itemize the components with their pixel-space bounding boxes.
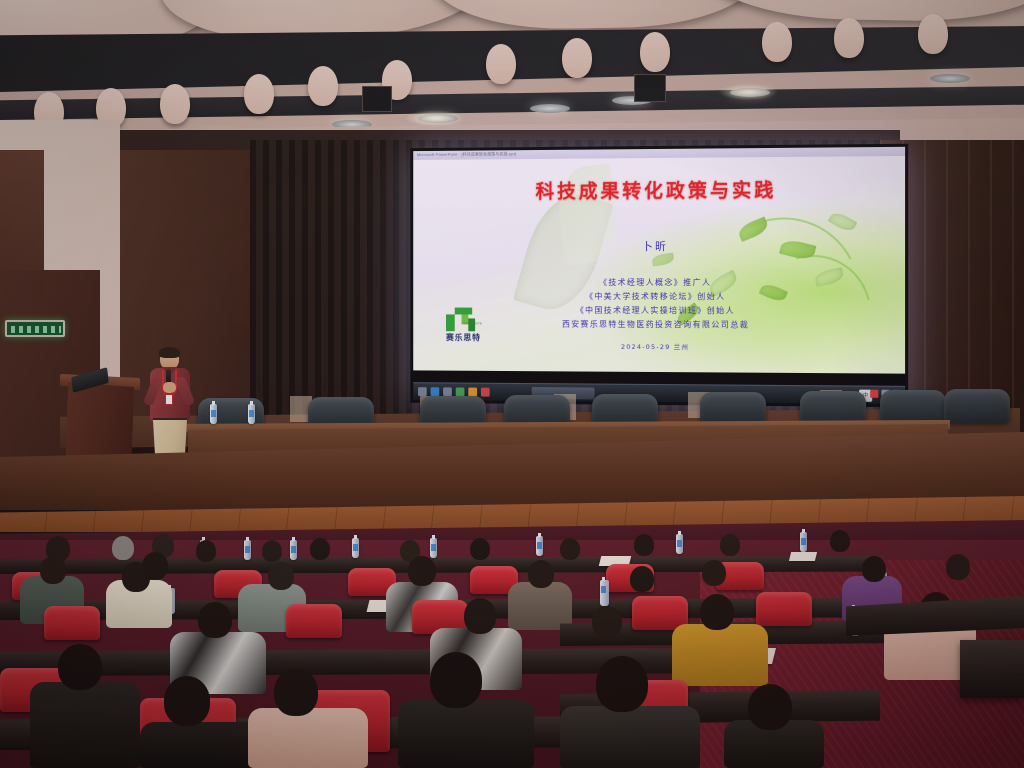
projection-screen: Microsoft PowerPoint - [科技成果转化政策与实践.ppt]… — [410, 144, 908, 408]
ceiling-downlight — [918, 14, 948, 54]
presenter-badge — [165, 394, 173, 405]
audience-head — [274, 668, 318, 716]
powerpoint-icon[interactable] — [481, 388, 490, 397]
audience-head — [592, 606, 622, 638]
ceiling-light-fixture — [530, 104, 570, 113]
water-bottle — [800, 532, 807, 552]
ceiling-downlight — [762, 22, 792, 62]
ceiling-downlight — [244, 74, 274, 114]
projected-desktop: Microsoft PowerPoint - [科技成果转化政策与实践.ppt]… — [413, 147, 905, 404]
credential-line: 《技术经理人概念》推广人 — [413, 276, 905, 290]
audience-head — [196, 540, 216, 562]
decorative-leaf-icon — [828, 210, 858, 235]
audience-head — [464, 598, 496, 634]
stage-chair — [944, 389, 1010, 423]
powerpoint-window-title: Microsoft PowerPoint - [科技成果转化政策与实践.ppt] — [417, 151, 516, 158]
ceiling-downlight — [640, 32, 670, 72]
stage-chair — [880, 390, 946, 424]
audience-person-body — [672, 624, 768, 686]
audience-person-body — [560, 706, 700, 768]
logo-mark-icon — [446, 308, 475, 332]
credential-line: 《中美大学技术转移论坛》创始人 — [413, 290, 905, 305]
water-bottle — [600, 580, 609, 606]
audience-head — [408, 556, 436, 586]
audience-head — [702, 560, 726, 586]
ceiling-panel — [699, 0, 1024, 23]
audience-person-body — [140, 722, 260, 768]
aisle-desk-end — [960, 640, 1024, 698]
auditorium-photo-scene: Microsoft PowerPoint - [科技成果转化政策与实践.ppt]… — [0, 0, 1024, 768]
decorative-leaf-icon — [651, 252, 674, 266]
presenter-hands — [163, 382, 176, 393]
ceiling-downlight — [160, 84, 190, 124]
audience-head — [310, 538, 330, 560]
water-bottle — [676, 534, 683, 554]
audience-head — [528, 560, 554, 588]
desktop-icon[interactable] — [418, 387, 427, 396]
audience-head — [58, 644, 102, 690]
audience-head — [862, 556, 886, 582]
ceiling-vent — [362, 86, 392, 112]
audience-person-body — [398, 700, 534, 768]
audience-head — [700, 594, 734, 630]
left-wall-wood-panel — [0, 150, 44, 280]
ceiling-downlight — [486, 44, 516, 84]
light-glow — [718, 84, 778, 100]
audience-head — [748, 684, 792, 730]
audience-head — [164, 676, 210, 726]
slide-author: 卜昕 — [413, 237, 905, 254]
ceiling-downlight — [834, 18, 864, 58]
audience-person-body — [248, 708, 368, 768]
water-bottle — [248, 404, 255, 424]
ceiling-light-fixture — [930, 74, 970, 83]
browser-icon[interactable] — [431, 387, 440, 396]
audience-head — [470, 538, 490, 560]
logo-wordmark: 赛乐思特 — [434, 332, 492, 343]
ceiling-panel — [429, 0, 761, 31]
company-logo: SAILEXSITE 赛乐思特 — [434, 308, 492, 350]
audience-head — [198, 602, 232, 638]
presentation-slide: 科技成果转化政策与实践 卜昕 《技术经理人概念》推广人 《中美大学技术转移论坛》… — [413, 156, 905, 374]
water-bottle — [244, 540, 251, 560]
audience-head — [40, 556, 66, 584]
audience-head — [560, 538, 580, 560]
audience-head — [946, 554, 970, 580]
audience-head — [720, 534, 740, 556]
ceiling-soffit — [0, 86, 1024, 120]
ceiling-downlight — [308, 66, 338, 106]
water-bottle — [430, 538, 437, 558]
ceiling-vent — [634, 74, 666, 102]
auditorium-seat — [286, 604, 342, 638]
slide-title: 科技成果转化政策与实践 — [413, 174, 905, 204]
water-bottle — [536, 536, 543, 556]
exit-sign — [5, 320, 65, 337]
audience-head — [596, 656, 648, 712]
logo-subtext: SAILEXSITE — [463, 321, 482, 325]
presenter-hair — [159, 347, 180, 358]
folder-icon[interactable] — [443, 387, 452, 396]
audience-head — [830, 530, 850, 552]
ceiling-downlight — [562, 38, 592, 78]
water-bottle — [290, 540, 297, 560]
audience-person-body — [508, 582, 572, 630]
audience-desk-row — [0, 648, 700, 676]
handout-paper — [789, 552, 817, 561]
tray-icon[interactable] — [870, 390, 878, 398]
auditorium-seat — [756, 592, 812, 626]
water-bottle — [210, 404, 217, 424]
audience-head — [262, 540, 282, 562]
audience-head — [630, 566, 654, 592]
stage-chair — [700, 392, 766, 426]
audience-head — [112, 536, 134, 560]
audience-person-body — [30, 682, 140, 768]
stage-chair — [800, 391, 866, 425]
light-glow — [404, 110, 464, 126]
audience-head — [142, 552, 168, 580]
audience-head — [268, 562, 294, 590]
auditorium-seat — [44, 606, 100, 640]
water-bottle — [352, 538, 359, 558]
audience-head — [634, 534, 654, 556]
audience-head — [430, 652, 482, 708]
